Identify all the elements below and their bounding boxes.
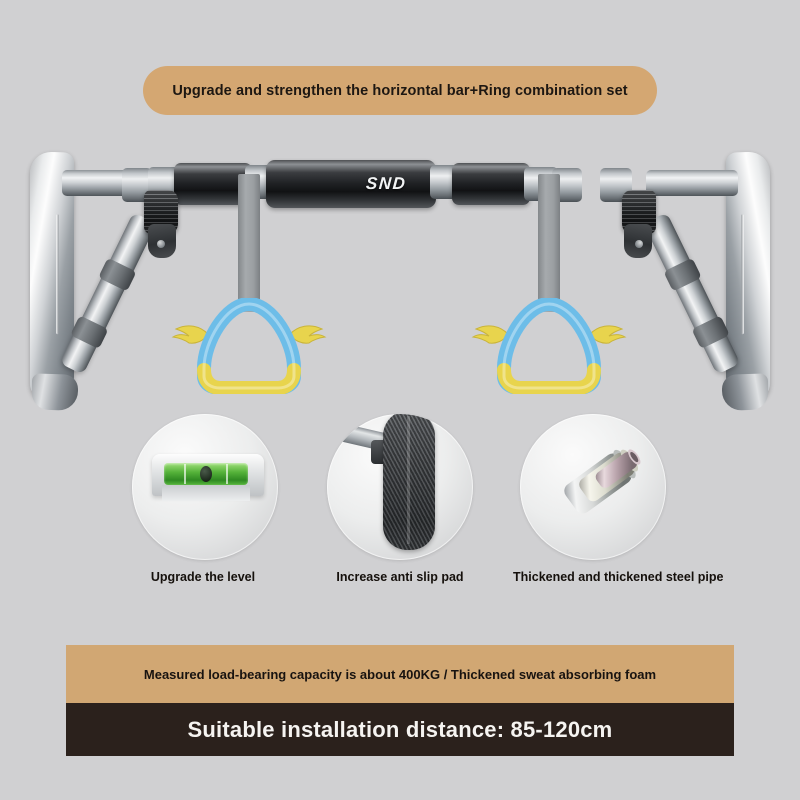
brand-logo: SND bbox=[365, 174, 407, 194]
level-bubble bbox=[200, 466, 212, 482]
feature-image-circle bbox=[327, 414, 473, 560]
header-banner: Upgrade and strengthen the horizontal ba… bbox=[143, 66, 657, 115]
vial-mark bbox=[184, 464, 186, 484]
level-vial-icon bbox=[164, 463, 248, 485]
feature-image-circle bbox=[520, 414, 666, 560]
bar-foam-grip bbox=[452, 163, 530, 205]
adjustment-knob-left bbox=[136, 184, 196, 264]
hanging-strap-left bbox=[238, 174, 260, 312]
pivot-pin bbox=[157, 240, 165, 248]
product-infographic: Upgrade and strengthen the horizontal ba… bbox=[0, 0, 800, 800]
anti-slip-pad bbox=[383, 414, 435, 550]
level-shelf bbox=[162, 485, 250, 501]
pad-spine bbox=[407, 416, 410, 544]
steel-pipe-illustration bbox=[520, 414, 666, 560]
feature-anti-slip-pad: Increase anti slip pad bbox=[320, 414, 480, 584]
hanging-strap-right bbox=[538, 174, 560, 312]
adjustment-knob-right bbox=[604, 184, 664, 264]
pivot-bracket bbox=[148, 224, 176, 258]
feature-caption: Increase anti slip pad bbox=[320, 570, 480, 584]
vial-mark bbox=[226, 464, 228, 484]
installation-distance-banner: Suitable installation distance: 85-120cm bbox=[66, 703, 734, 756]
feature-callouts: Upgrade the level Increase anti slip pad bbox=[0, 414, 800, 589]
feature-image-circle bbox=[132, 414, 278, 560]
installation-distance-text: Suitable installation distance: 85-120cm bbox=[188, 717, 613, 743]
feature-steel-pipe: Thickened and thickened steel pipe bbox=[513, 414, 673, 584]
plate-foot bbox=[722, 373, 768, 411]
gymnastic-ring-left bbox=[174, 298, 324, 408]
horizontal-bar: SND bbox=[0, 158, 800, 228]
plate-foot bbox=[32, 373, 78, 411]
product-illustration: SND bbox=[0, 130, 800, 420]
ring-handle bbox=[194, 298, 304, 394]
bar-foam-grip-center bbox=[266, 160, 436, 208]
plate-groove bbox=[56, 214, 59, 334]
spec-banner-text: Measured load-bearing capacity is about … bbox=[144, 667, 656, 682]
gymnastic-ring-right bbox=[474, 298, 624, 408]
plate-groove bbox=[741, 214, 744, 334]
pivot-bracket bbox=[624, 224, 652, 258]
header-banner-text: Upgrade and strengthen the horizontal ba… bbox=[172, 83, 627, 99]
feature-spirit-level: Upgrade the level bbox=[125, 414, 285, 584]
spec-banner: Measured load-bearing capacity is about … bbox=[66, 645, 734, 703]
pivot-pin bbox=[635, 240, 643, 248]
feature-caption: Thickened and thickened steel pipe bbox=[513, 570, 673, 584]
feature-caption: Upgrade the level bbox=[121, 570, 285, 584]
ring-handle bbox=[494, 298, 604, 394]
